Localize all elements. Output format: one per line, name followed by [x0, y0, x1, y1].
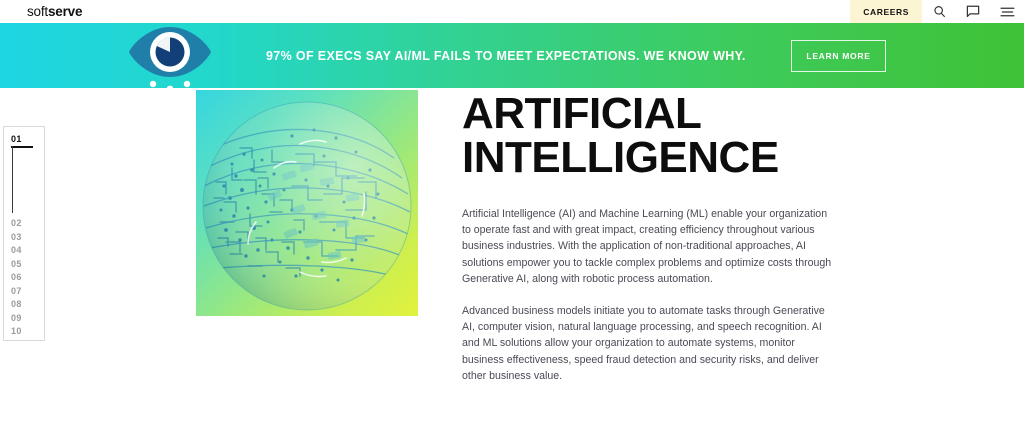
sidebar-item-07[interactable]: 07 [11, 285, 22, 299]
section-number-nav: 01 02 03 04 05 06 07 08 09 10 [3, 126, 45, 341]
search-button[interactable] [922, 0, 956, 23]
hamburger-menu-icon [1000, 6, 1015, 18]
headline-line-2: INTELLIGENCE [462, 136, 842, 180]
content-column: ARTIFICIAL INTELLIGENCE Artificial Intel… [462, 88, 842, 384]
learn-more-button[interactable]: LEARN MORE [791, 40, 886, 72]
sidebar-item-02[interactable]: 02 [11, 217, 22, 231]
nav-inactive-items: 02 03 04 05 06 07 08 09 10 [11, 217, 22, 339]
menu-button[interactable] [990, 0, 1024, 23]
active-item-underline [11, 146, 33, 148]
chat-button[interactable] [956, 0, 990, 23]
sidebar-item-03[interactable]: 03 [11, 231, 22, 245]
sidebar-item-05[interactable]: 05 [11, 258, 22, 272]
chat-icon [966, 5, 980, 18]
eye-icon [126, 21, 214, 93]
careers-button[interactable]: CAREERS [850, 0, 922, 23]
intro-paragraph-1: Artificial Intelligence (AI) and Machine… [462, 180, 834, 287]
sidebar-item-06[interactable]: 06 [11, 271, 22, 285]
sidebar-item-01[interactable]: 01 [11, 133, 44, 147]
logo-text-soft: soft [27, 4, 48, 19]
softserve-logo[interactable]: softserve [27, 5, 82, 19]
learn-more-label: LEARN MORE [806, 51, 870, 61]
header-actions: CAREERS [850, 0, 1024, 23]
sidebar-item-09[interactable]: 09 [11, 312, 22, 326]
nav-progress-line [12, 146, 14, 213]
site-header: softserve CAREERS [0, 0, 1024, 23]
intro-paragraph-2: Advanced business models initiate you to… [462, 287, 834, 384]
circuit-sphere-illustration [196, 90, 418, 316]
headline-line-1: ARTIFICIAL [462, 89, 701, 138]
main-content: 01 02 03 04 05 06 07 08 09 10 [0, 88, 1024, 424]
promo-banner: 97% OF EXECS SAY AI/ML FAILS TO MEET EXP… [0, 23, 1024, 88]
logo-text-serve: serve [48, 4, 82, 19]
page-title: ARTIFICIAL INTELLIGENCE [462, 88, 842, 180]
banner-message: 97% OF EXECS SAY AI/ML FAILS TO MEET EXP… [266, 23, 746, 88]
careers-button-label: CAREERS [863, 7, 909, 17]
search-icon [933, 5, 946, 18]
sidebar-item-08[interactable]: 08 [11, 298, 22, 312]
sidebar-item-10[interactable]: 10 [11, 325, 22, 339]
sidebar-item-04[interactable]: 04 [11, 244, 22, 258]
